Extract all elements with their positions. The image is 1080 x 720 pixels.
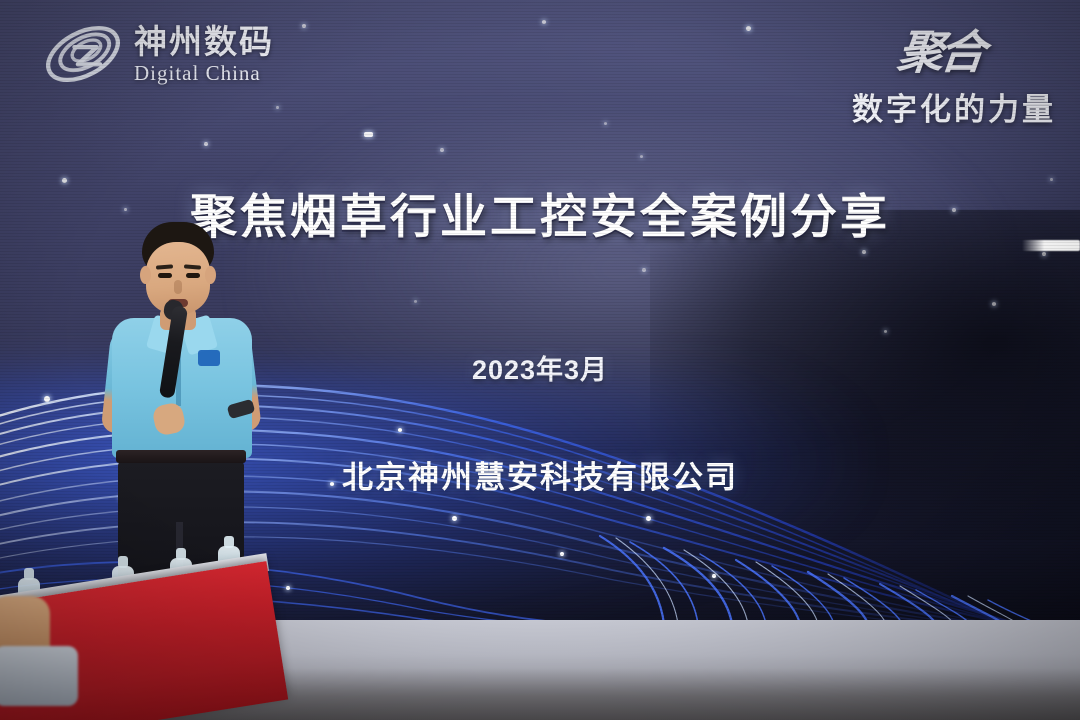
particle-dash: [364, 132, 373, 137]
event-calligraphy: 聚合: [895, 16, 986, 82]
particle-dot: [204, 142, 208, 146]
audience-papers: [0, 646, 78, 706]
speaker-ear-left: [140, 266, 151, 284]
particle-dot: [642, 268, 646, 272]
particle-dot: [604, 122, 607, 125]
particle-dot: [276, 106, 279, 109]
particle-dot: [862, 250, 866, 254]
conference-stage-photo: 神州数码 Digital China 聚合 数字化的力量 聚焦烟草行业工控安全案…: [0, 0, 1080, 720]
speaker-belt: [116, 450, 246, 463]
brand-name-en: Digital China: [134, 63, 274, 84]
spiral-swirl-icon: [40, 18, 126, 90]
particle-dot: [1042, 252, 1046, 256]
event-mark: 聚合 数字化的力量: [852, 16, 1056, 129]
particle-dot: [440, 148, 444, 152]
particle-dot: [302, 24, 306, 28]
particle-dot: [640, 155, 643, 158]
brand-name-cn: 神州数码: [134, 25, 274, 58]
speaker-eye-right: [186, 273, 200, 278]
particle-dot: [414, 300, 417, 303]
speaker-eye-left: [158, 273, 172, 278]
particle-dot: [992, 302, 996, 306]
speaker-ear-right: [205, 266, 216, 284]
event-subtitle: 数字化的力量: [852, 84, 1056, 129]
particle-dot: [542, 20, 546, 24]
speaker-nose: [174, 280, 182, 294]
brand-logo: 神州数码 Digital China: [40, 18, 274, 90]
particle-dot: [746, 26, 751, 31]
speaker-chest-logo: [198, 350, 220, 366]
